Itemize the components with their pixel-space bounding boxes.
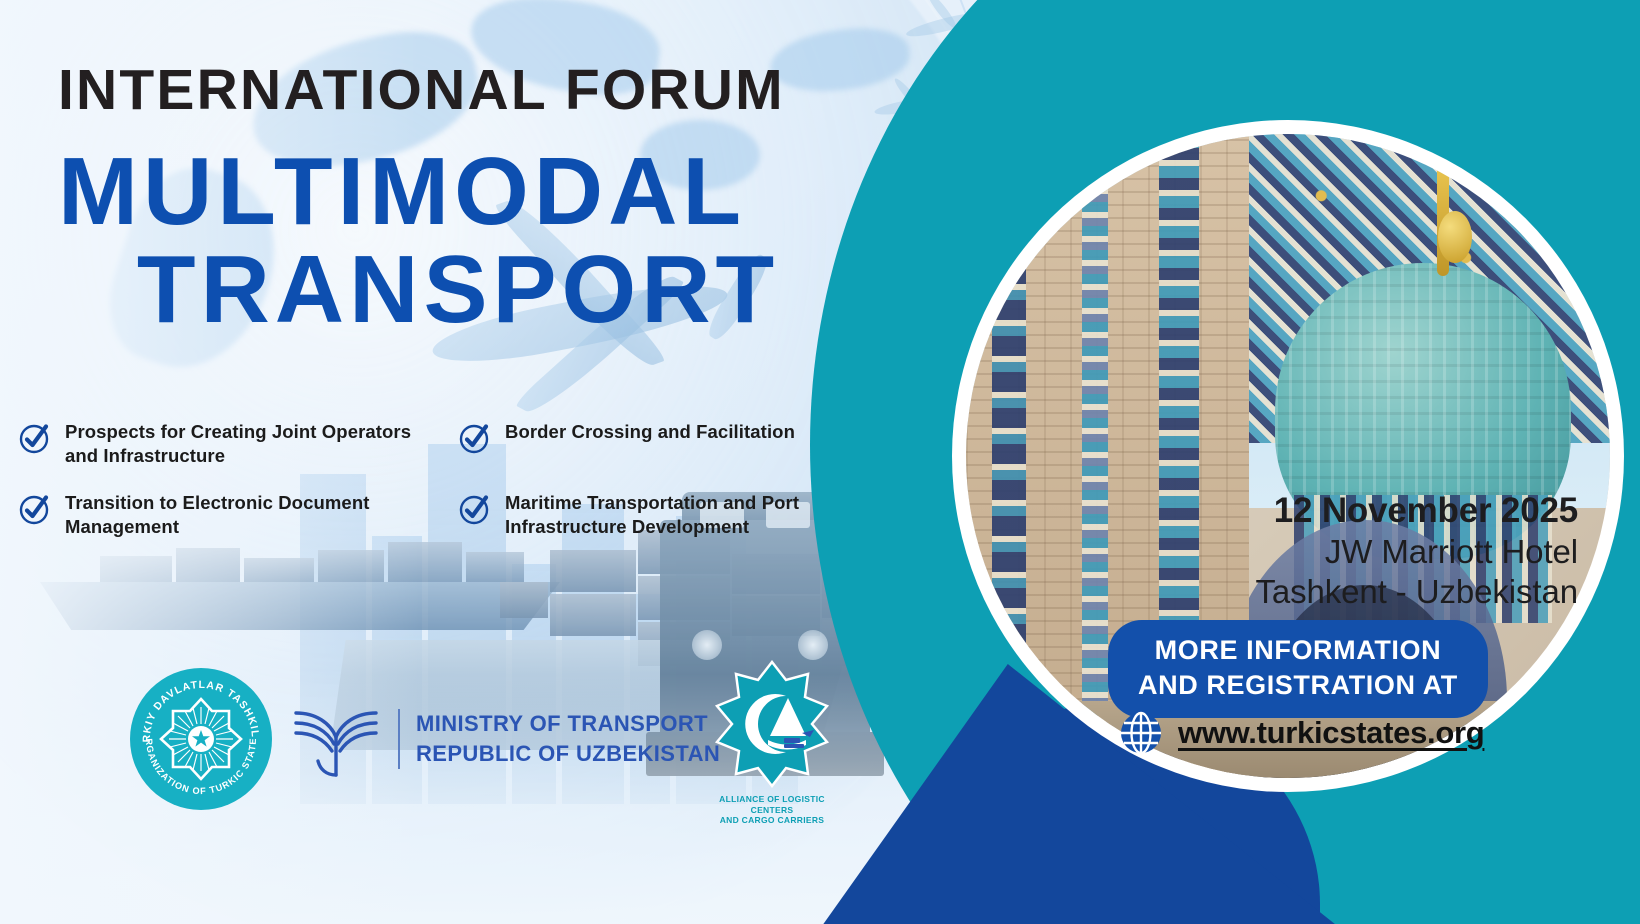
forum-kicker: INTERNATIONAL FORUM [58, 62, 898, 119]
alliance-logistics-star-icon [708, 660, 836, 788]
alliance-caption-line1: ALLIANCE OF LOGISTIC CENTERS [719, 794, 825, 815]
ministry-line2: REPUBLIC OF UZBEKISTAN [416, 741, 720, 766]
turkic-states-emblem-icon: TURKIY DAVLATLAR TASHKILOTI ORGANIZATION… [130, 668, 272, 810]
topic-label: Prospects for Creating Joint Operators a… [65, 420, 448, 467]
registration-cta-button[interactable]: MORE INFORMATION AND REGISTRATION AT [1108, 620, 1488, 718]
topic-item-border-crossing: Border Crossing and Facilitation [448, 420, 868, 467]
topic-item-joint-operators: Prospects for Creating Joint Operators a… [18, 420, 448, 467]
topic-item-e-documents: Transition to Electronic Document Manage… [18, 491, 448, 538]
ministry-of-transport-logo: MINISTRY OF TRANSPORT REPUBLIC OF UZBEKI… [290, 697, 720, 781]
check-circle-icon [18, 421, 52, 455]
poster-canvas: INTERNATIONAL FORUM MULTIMODAL TRANSPORT… [0, 0, 1640, 924]
event-details: 12 November 2025 JW Marriott Hotel Tashk… [1058, 492, 1578, 612]
topic-label: Transition to Electronic Document Manage… [65, 491, 448, 538]
website-url[interactable]: www.turkicstates.org [1178, 715, 1484, 751]
partner-logos-row: TURKIY DAVLATLAR TASHKILOTI ORGANIZATION… [130, 668, 720, 810]
event-city: Tashkent - Uzbekistan [1058, 572, 1578, 612]
website-link-row[interactable]: www.turkicstates.org [1118, 710, 1484, 756]
forum-title-line2: TRANSPORT [58, 243, 858, 337]
alliance-caption-line2: AND CARGO CARRIERS [720, 815, 825, 825]
check-circle-icon [458, 421, 492, 455]
event-venue: JW Marriott Hotel [1058, 532, 1578, 572]
cta-line1: MORE INFORMATION [1138, 633, 1458, 668]
ministry-of-transport-mark-icon [290, 697, 382, 781]
topics-list: Prospects for Creating Joint Operators a… [18, 420, 868, 539]
logo-divider [398, 709, 400, 769]
topic-item-maritime-ports: Maritime Transportation and Port Infrast… [448, 491, 868, 538]
forum-title-line1: MULTIMODAL [58, 145, 898, 239]
cta-line2: AND REGISTRATION AT [1138, 668, 1458, 703]
globe-icon [1118, 710, 1164, 756]
headline-group: INTERNATIONAL FORUM MULTIMODAL TRANSPORT [58, 62, 898, 337]
topic-label: Maritime Transportation and Port Infrast… [505, 491, 868, 538]
ministry-line1: MINISTRY OF TRANSPORT [416, 711, 708, 736]
check-circle-icon [458, 492, 492, 526]
check-circle-icon [18, 492, 52, 526]
alliance-logistics-logo: ALLIANCE OF LOGISTIC CENTERS AND CARGO C… [698, 660, 846, 826]
event-date: 12 November 2025 [1058, 492, 1578, 530]
topic-label: Border Crossing and Facilitation [505, 420, 795, 444]
